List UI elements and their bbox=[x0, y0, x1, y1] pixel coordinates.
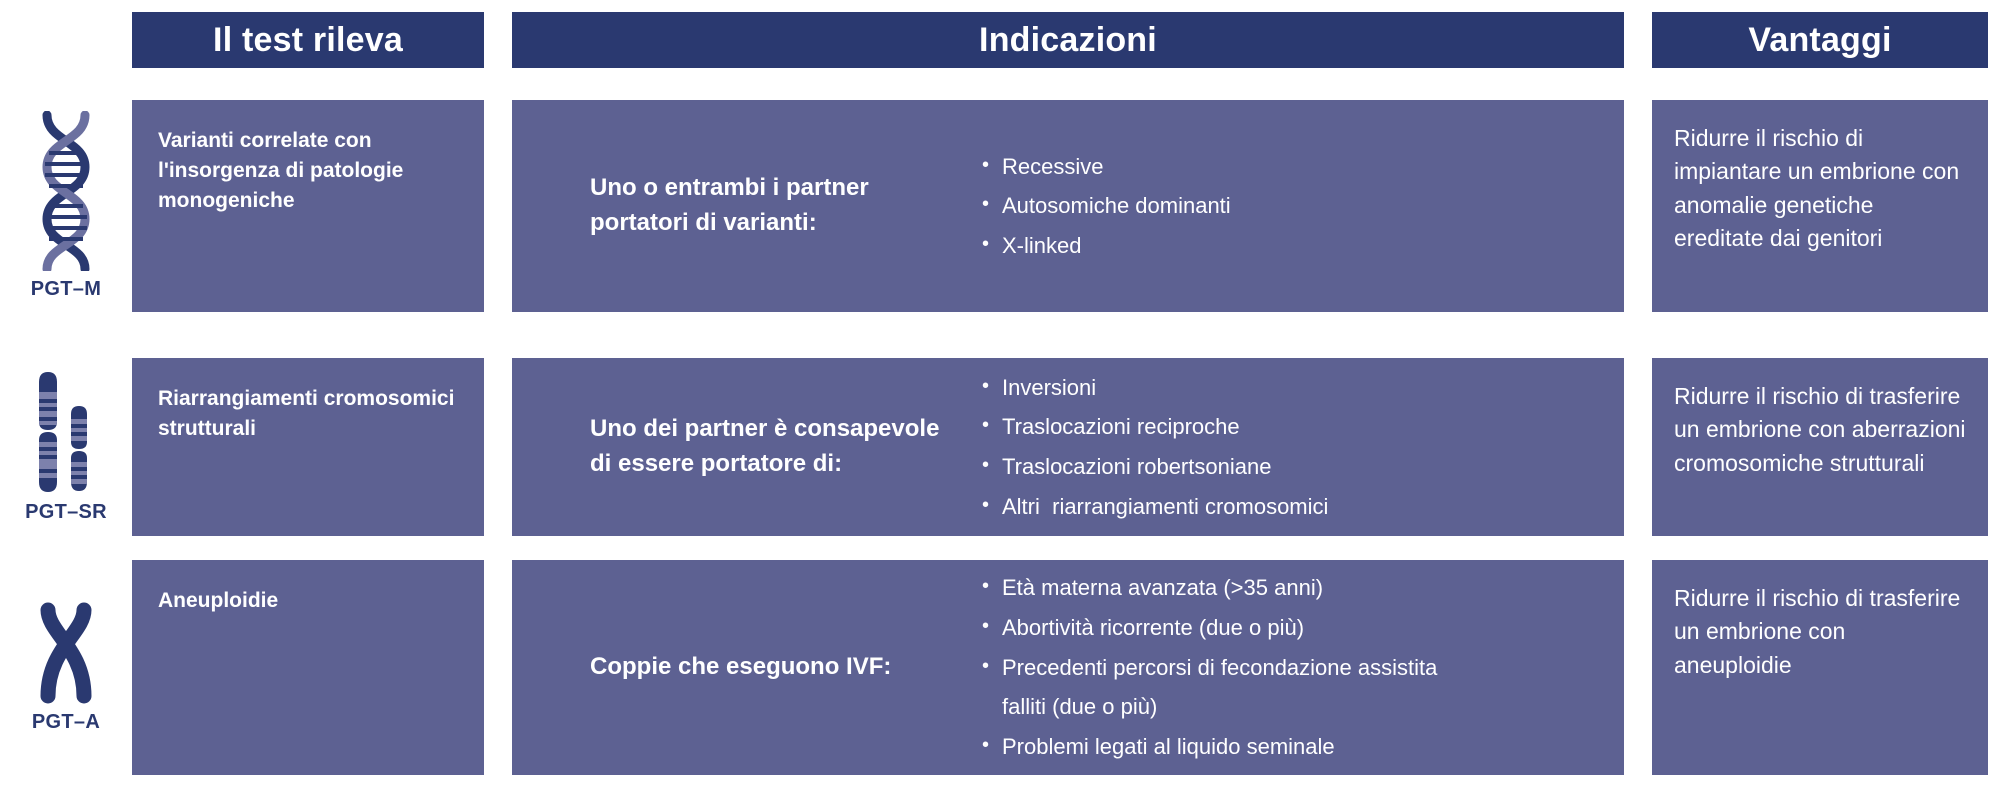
column-header-indicazioni: Indicazioni bbox=[512, 12, 1624, 68]
bullet-item: Inversioni bbox=[982, 370, 1624, 406]
bullet-list: InversioniTraslocazioni reciprocheTraslo… bbox=[982, 370, 1624, 525]
bullet-item: Problemi legati al liquido seminale bbox=[982, 729, 1624, 765]
dna-helix-icon bbox=[35, 111, 97, 276]
icon-cell-pgt-sr: PGT–SR bbox=[0, 358, 132, 536]
bullet-list: Età materna avanzata (>35 anni)Abortivit… bbox=[982, 570, 1624, 764]
bullet-list: RecessiveAutosomiche dominantiX-linked bbox=[982, 149, 1624, 264]
bullet-item: Precedenti percorsi di fecondazione assi… bbox=[982, 650, 1624, 686]
icon-label-pgt-sr: PGT–SR bbox=[25, 501, 107, 524]
bullet-item: Età materna avanzata (>35 anni) bbox=[982, 570, 1624, 606]
bullet-item: Traslocazioni robertsoniane bbox=[982, 449, 1624, 485]
bullet-item: Abortività ricorrente (due o più) bbox=[982, 610, 1624, 646]
vantaggio-cell-pgt-m: Ridurre il rischio di impiantare un embr… bbox=[1652, 100, 1988, 312]
test-cell-pgt-a: Aneuploidie bbox=[132, 560, 484, 775]
bullet-item: Traslocazioni reciproche bbox=[982, 409, 1624, 445]
indication-bullets-pgt-m: RecessiveAutosomiche dominantiX-linked bbox=[942, 149, 1624, 264]
icon-label-pgt-a: PGT–A bbox=[32, 711, 100, 734]
vantaggio-cell-pgt-sr: Ridurre il rischio di trasferire un embr… bbox=[1652, 358, 1988, 536]
bullet-item: Autosomiche dominanti bbox=[982, 188, 1624, 224]
indication-title-pgt-sr: Uno dei partner è consapevole di essere … bbox=[512, 412, 942, 482]
indication-title-pgt-m: Uno o entrambi i partner portatori di va… bbox=[512, 171, 942, 241]
chromosome-x-icon bbox=[33, 602, 99, 709]
test-cell-pgt-sr: Riarrangiamenti cromosomici strutturali bbox=[132, 358, 484, 536]
indication-title-pgt-a: Coppie che eseguono IVF: bbox=[512, 650, 942, 685]
icon-cell-pgt-m: PGT–M bbox=[0, 100, 132, 312]
indicazioni-cell-pgt-sr: Uno dei partner è consapevole di essere … bbox=[512, 358, 1624, 536]
bullet-item: Recessive bbox=[982, 149, 1624, 185]
indicazioni-cell-pgt-a: Coppie che eseguono IVF: Età materna ava… bbox=[512, 560, 1624, 775]
icon-label-pgt-m: PGT–M bbox=[31, 278, 101, 301]
bullet-item: X-linked bbox=[982, 228, 1624, 264]
column-header-vantaggi: Vantaggi bbox=[1652, 12, 1988, 68]
indicazioni-cell-pgt-m: Uno o entrambi i partner portatori di va… bbox=[512, 100, 1624, 312]
bullet-item: falliti (due o più) bbox=[982, 689, 1624, 725]
vantaggio-cell-pgt-a: Ridurre il rischio di trasferire un embr… bbox=[1652, 560, 1988, 775]
column-header-il-test-rileva: Il test rileva bbox=[132, 12, 484, 68]
icon-cell-pgt-a: PGT–A bbox=[0, 560, 132, 775]
pgt-comparison-infographic: Il test rileva Indicazioni Vantaggi bbox=[0, 0, 2000, 787]
chromosome-pair-icon bbox=[29, 370, 103, 499]
test-cell-pgt-m: Varianti correlate con l'insorgenza di p… bbox=[132, 100, 484, 312]
indication-bullets-pgt-a: Età materna avanzata (>35 anni)Abortivit… bbox=[942, 570, 1624, 764]
bullet-item: Altri riarrangiamenti cromosomici bbox=[982, 489, 1624, 525]
indication-bullets-pgt-sr: InversioniTraslocazioni reciprocheTraslo… bbox=[942, 370, 1624, 525]
